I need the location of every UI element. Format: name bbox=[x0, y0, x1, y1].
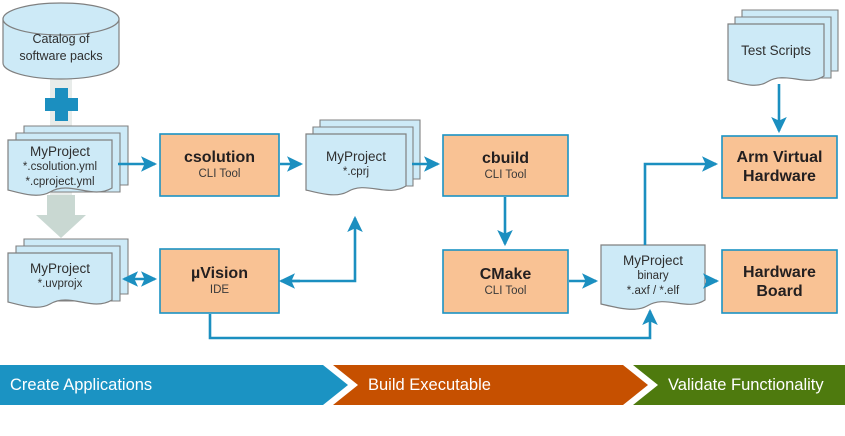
project-yml-doc-shape bbox=[8, 126, 128, 195]
arrow-binary-to-avh bbox=[645, 164, 716, 245]
avh-box-shape bbox=[722, 136, 837, 198]
project-cprj-doc-shape bbox=[306, 120, 420, 195]
arrow-uvision-to-binary bbox=[210, 311, 650, 338]
project-uvprojx-doc-shape bbox=[8, 239, 128, 307]
csolution-box-shape bbox=[160, 134, 279, 196]
test-scripts-doc-shape bbox=[728, 10, 838, 85]
cbuild-box-shape bbox=[443, 135, 568, 196]
binary-doc-shape bbox=[601, 245, 705, 309]
diagram-graphics bbox=[0, 0, 845, 436]
arrow-uvision-to-cprj bbox=[284, 218, 355, 281]
stage-2-shape bbox=[333, 365, 648, 405]
catalog-cylinder-shape bbox=[3, 3, 119, 79]
uvision-box-shape bbox=[160, 249, 279, 313]
plus-icon bbox=[45, 88, 78, 121]
diagram-canvas: Catalog of software packs MyProject *.cs… bbox=[0, 0, 845, 436]
stage-3-shape bbox=[633, 365, 845, 405]
board-box-shape bbox=[722, 250, 837, 313]
cmake-box-shape bbox=[443, 250, 568, 313]
stage-1-shape bbox=[0, 365, 348, 405]
stage-banner-shapes bbox=[0, 365, 845, 405]
